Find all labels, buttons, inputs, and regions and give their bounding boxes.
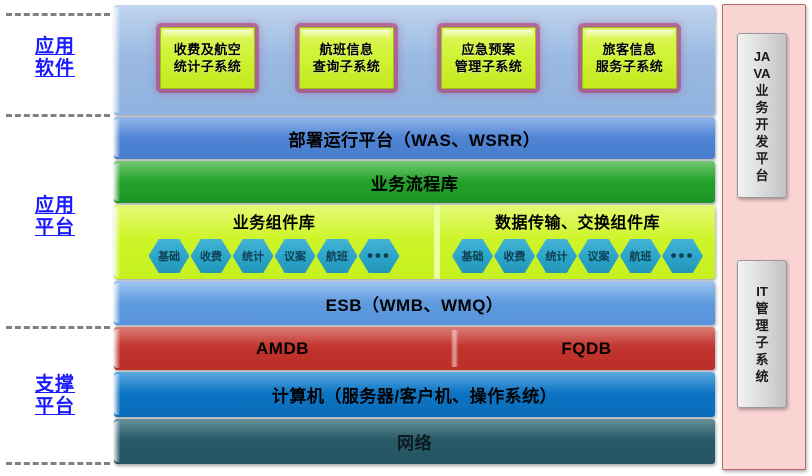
app-subsystem-label: 航班信息 查询子系统 bbox=[313, 41, 381, 75]
left-edge-highlight bbox=[114, 421, 120, 462]
category-label-app-platform: 应用 平台 bbox=[18, 195, 92, 239]
label-line2: 查询子系统 bbox=[313, 59, 381, 74]
divider-top bbox=[6, 13, 110, 16]
divider-bottom bbox=[6, 462, 110, 465]
label-line1: 应急预案 bbox=[461, 42, 515, 57]
java-dev-platform-box[interactable]: JAVA业务开发平台 bbox=[737, 33, 787, 198]
layer-label: 网络 bbox=[397, 429, 432, 454]
pane-title: 数据传输、交换组件库 bbox=[440, 209, 715, 233]
layer-label: 部署运行平台（WAS、WSRR） bbox=[289, 126, 541, 151]
label-line2: 管理子系统 bbox=[455, 59, 523, 74]
category-label-line2: 平台 bbox=[18, 396, 92, 418]
component-hex[interactable]: 航班 bbox=[620, 239, 661, 273]
left-edge-highlight bbox=[114, 283, 120, 323]
label-line2: 服务子系统 bbox=[596, 59, 664, 74]
layer-computers[interactable]: 计算机（服务器/客户机、操作系统） bbox=[114, 372, 715, 417]
data-exchange-component-library-pane[interactable]: 数据传输、交换组件库 基础 收费 统计 议案 航班 ••• bbox=[437, 205, 715, 279]
component-hex[interactable]: 收费 bbox=[191, 239, 232, 273]
layer-label: ESB（WMB、WMQ） bbox=[326, 291, 504, 316]
component-hex[interactable]: 收费 bbox=[494, 239, 535, 273]
label-line1: 收费及航空 bbox=[174, 42, 242, 57]
app-subsystem-label: 收费及航空 统计子系统 bbox=[174, 41, 242, 75]
layer-databases[interactable]: AMDB FQDB bbox=[114, 327, 715, 370]
component-hex-row-left: 基础 收费 统计 议案 航班 ••• bbox=[114, 239, 434, 273]
component-hex[interactable]: 统计 bbox=[536, 239, 577, 273]
layer-stack: 收费及航空 统计子系统 航班信息 查询子系统 应急预案 管理子系统 旅客信息 bbox=[114, 2, 715, 472]
component-hex-more[interactable]: ••• bbox=[359, 239, 400, 273]
layer-network[interactable]: 网络 bbox=[114, 419, 715, 464]
app-subsystem-label: 应急预案 管理子系统 bbox=[455, 41, 523, 75]
component-hex-row-right: 基础 收费 统计 议案 航班 ••• bbox=[440, 239, 715, 273]
left-edge-highlight bbox=[114, 7, 120, 113]
layer-component-libraries[interactable]: 业务组件库 基础 收费 统计 议案 航班 ••• 数据传输、交换组件库 基础 收… bbox=[114, 205, 715, 279]
app-subsystem-label: 旅客信息 服务子系统 bbox=[596, 41, 664, 75]
component-hex[interactable]: 议案 bbox=[275, 239, 316, 273]
component-hex[interactable]: 统计 bbox=[233, 239, 274, 273]
app-subsystem-box-4[interactable]: 旅客信息 服务子系统 bbox=[582, 27, 677, 89]
category-label-line1: 应用 bbox=[18, 36, 92, 58]
business-component-library-pane[interactable]: 业务组件库 基础 收费 统计 议案 航班 ••• bbox=[114, 205, 437, 279]
category-label-line1: 应用 bbox=[18, 195, 92, 217]
component-hex[interactable]: 基础 bbox=[452, 239, 493, 273]
component-hex[interactable]: 航班 bbox=[317, 239, 358, 273]
layer-application-software[interactable]: 收费及航空 统计子系统 航班信息 查询子系统 应急预案 管理子系统 旅客信息 bbox=[114, 5, 715, 115]
layer-label: 计算机（服务器/客户机、操作系统） bbox=[272, 382, 557, 407]
component-hex[interactable]: 基础 bbox=[149, 239, 190, 273]
layer-deploy-platform[interactable]: 部署运行平台（WAS、WSRR） bbox=[114, 117, 715, 159]
it-management-subsystem-box[interactable]: IT管理子系统 bbox=[737, 260, 787, 408]
architecture-diagram: 应用 软件 应用 平台 支撑 平台 收费及航空 统计子系统 航班信息 查询子系统 bbox=[0, 0, 812, 476]
category-label-app-software: 应用 软件 bbox=[18, 36, 92, 80]
component-hex[interactable]: 议案 bbox=[578, 239, 619, 273]
database-amdb[interactable]: AMDB bbox=[114, 327, 451, 370]
left-edge-highlight bbox=[114, 163, 120, 201]
app-subsystem-box-1[interactable]: 收费及航空 统计子系统 bbox=[160, 27, 255, 89]
left-edge-highlight bbox=[114, 374, 120, 415]
it-management-subsystem-label: IT管理子系统 bbox=[751, 283, 773, 385]
category-label-support-platform: 支撑 平台 bbox=[18, 374, 92, 418]
pane-title: 业务组件库 bbox=[114, 209, 434, 233]
left-edge-highlight bbox=[114, 119, 120, 157]
layer-label: 业务流程库 bbox=[371, 170, 459, 195]
divider-platform-support bbox=[6, 326, 110, 329]
category-label-line2: 软件 bbox=[18, 58, 92, 80]
app-subsystem-box-2[interactable]: 航班信息 查询子系统 bbox=[299, 27, 394, 89]
component-hex-more[interactable]: ••• bbox=[662, 239, 703, 273]
layer-business-flow-library[interactable]: 业务流程库 bbox=[114, 161, 715, 203]
label-line1: 旅客信息 bbox=[602, 42, 656, 57]
right-side-panel: JAVA业务开发平台 IT管理子系统 bbox=[722, 4, 806, 470]
category-label-line2: 平台 bbox=[18, 217, 92, 239]
app-subsystem-box-3[interactable]: 应急预案 管理子系统 bbox=[441, 27, 536, 89]
java-dev-platform-label: JAVA业务开发平台 bbox=[751, 48, 773, 184]
layer-esb[interactable]: ESB（WMB、WMQ） bbox=[114, 281, 715, 325]
label-line2: 统计子系统 bbox=[174, 59, 242, 74]
database-divider bbox=[451, 330, 458, 367]
label-line1: 航班信息 bbox=[319, 42, 373, 57]
divider-app-software-platform bbox=[6, 114, 110, 117]
category-label-line1: 支撑 bbox=[18, 374, 92, 396]
database-fqdb[interactable]: FQDB bbox=[458, 327, 715, 370]
